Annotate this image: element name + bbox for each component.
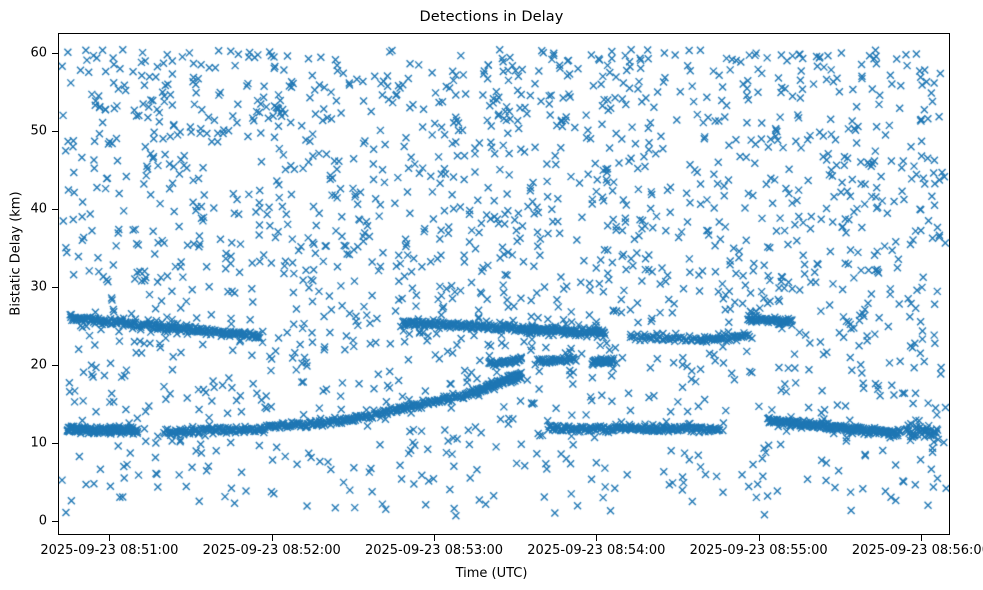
y-tick-mark [52, 521, 58, 522]
x-tick-label: 2025-09-23 08:51:00 [40, 543, 178, 558]
x-tick-mark [434, 535, 435, 541]
y-tick-label: 20 [30, 358, 47, 373]
x-tick-label: 2025-09-23 08:53:00 [365, 543, 503, 558]
y-tick-label: 50 [30, 123, 47, 138]
x-tick-mark [921, 535, 922, 541]
x-tick-label: 2025-09-23 08:54:00 [527, 543, 665, 558]
y-tick-mark [52, 209, 58, 210]
y-tick-label: 40 [30, 201, 47, 216]
x-tick-label: 2025-09-23 08:52:00 [203, 543, 341, 558]
matplotlib-figure: Detections in Delay 0102030405060 2025-0… [0, 0, 983, 590]
y-tick-label: 30 [30, 279, 47, 294]
y-tick-label: 10 [30, 436, 47, 451]
y-tick-mark [52, 365, 58, 366]
x-tick-mark [109, 535, 110, 541]
y-axis-tick-labels: 0102030405060 [0, 0, 47, 590]
x-tick-label: 2025-09-23 08:56:00 [852, 543, 983, 558]
y-axis-label: Bistatic Delay (km) [9, 114, 24, 394]
x-tick-mark [596, 535, 597, 541]
y-tick-mark [52, 131, 58, 132]
x-tick-mark [759, 535, 760, 541]
scatter-plot-canvas [59, 34, 949, 534]
y-tick-mark [52, 443, 58, 444]
page-title: Detections in Delay [0, 9, 983, 25]
plot-axes [58, 33, 950, 535]
x-axis-label: Time (UTC) [0, 566, 983, 581]
y-tick-mark [52, 53, 58, 54]
x-tick-label: 2025-09-23 08:55:00 [690, 543, 828, 558]
y-tick-label: 60 [30, 45, 47, 60]
y-tick-label: 0 [39, 514, 47, 529]
x-tick-mark [272, 535, 273, 541]
y-tick-mark [52, 287, 58, 288]
